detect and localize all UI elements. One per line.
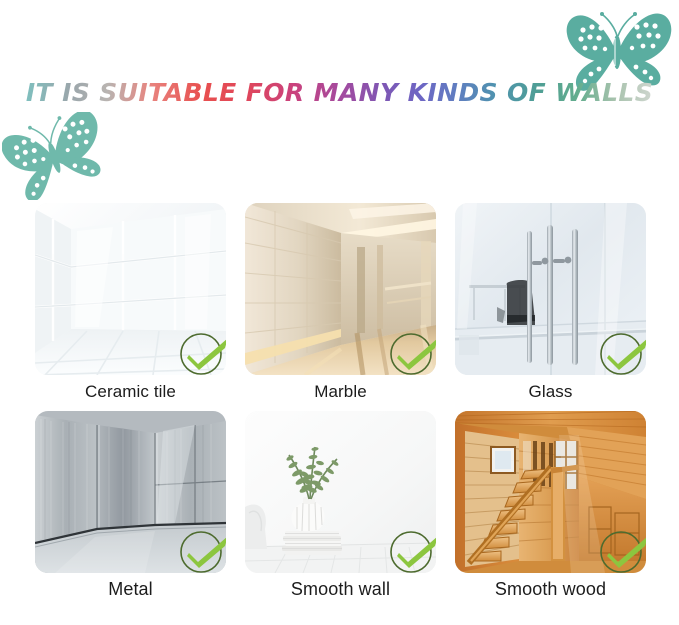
surface-photo-smooth-wall: [245, 411, 436, 573]
promo-banner: IT IS SUITABLE FOR MANY KINDS OF WALLS: [0, 0, 679, 625]
surface-card-smooth-wood: Smooth wood: [455, 411, 646, 600]
ceramic-tile-image: [35, 203, 226, 375]
surface-photo-marble: [245, 203, 436, 375]
surface-photo-glass: [455, 203, 646, 375]
surface-label: Smooth wood: [455, 579, 646, 600]
surface-photo-smooth-wood: [455, 411, 646, 573]
surface-label: Ceramic tile: [35, 382, 226, 402]
marble-image: [245, 203, 436, 375]
surface-card-ceramic-tile: Ceramic tile: [35, 203, 226, 402]
surface-label: Smooth wall: [245, 579, 436, 600]
surface-grid: Ceramic tile: [35, 203, 647, 600]
glass-image: [455, 203, 646, 375]
surface-card-glass: Glass: [455, 203, 646, 402]
surface-card-marble: Marble: [245, 203, 436, 402]
surface-label: Glass: [455, 382, 646, 402]
smooth-wall-image: [245, 411, 436, 573]
banner-heading: IT IS SUITABLE FOR MANY KINDS OF WALLS: [0, 78, 679, 110]
surface-row: Ceramic tile: [35, 203, 647, 402]
surface-card-smooth-wall: Smooth wall: [245, 411, 436, 600]
surface-row: Metal: [35, 411, 647, 600]
surface-card-metal: Metal: [35, 411, 226, 600]
smooth-wood-image: [455, 411, 646, 573]
surface-label: Marble: [245, 382, 436, 402]
metal-image: [35, 411, 226, 573]
surface-photo-ceramic-tile: [35, 203, 226, 375]
surface-photo-metal: [35, 411, 226, 573]
surface-label: Metal: [35, 579, 226, 600]
heading-text: IT IS SUITABLE FOR MANY KINDS OF WALLS: [26, 78, 653, 107]
butterfly-icon: [2, 112, 110, 200]
